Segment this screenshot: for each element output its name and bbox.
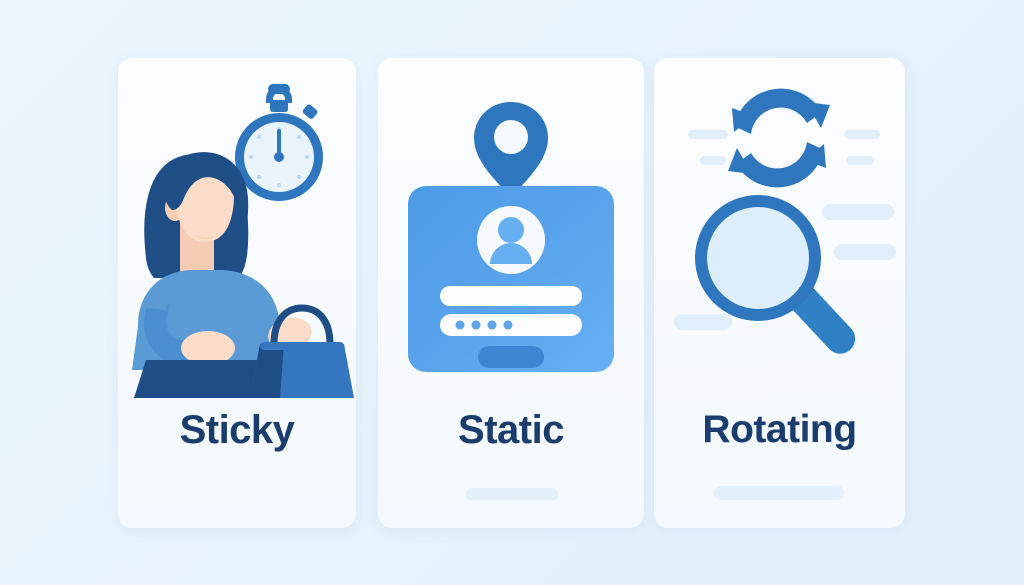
card-sticky-label: Sticky — [118, 408, 356, 453]
stopwatch-icon — [235, 84, 323, 201]
id-card-icon — [408, 186, 614, 372]
woman-with-shopping-bag-and-stopwatch-svg — [118, 58, 356, 398]
location-pin-over-login-id-card-svg — [378, 58, 644, 398]
sticky-illustration — [118, 58, 356, 398]
user-avatar-icon — [477, 206, 545, 274]
rotating-footer-placeholder-bar — [714, 486, 844, 500]
rotating-illustration — [654, 58, 905, 398]
card-sticky[interactable]: Sticky — [118, 58, 356, 528]
submit-button-icon — [478, 346, 544, 368]
location-pin-icon — [474, 102, 548, 198]
card-static-label: Static — [378, 408, 644, 453]
card-rotating[interactable]: Rotating — [654, 58, 905, 528]
password-field-icon — [440, 314, 582, 336]
card-static[interactable]: Static — [378, 58, 644, 528]
refresh-arrows-icon — [728, 89, 830, 188]
static-footer-placeholder-bar — [466, 488, 558, 501]
static-illustration — [378, 58, 644, 398]
illustration-canvas: Sticky — [0, 0, 1024, 585]
username-field-icon — [440, 286, 582, 306]
rotating-arrows-with-magnifier-svg — [654, 58, 905, 398]
card-rotating-label: Rotating — [654, 408, 905, 452]
